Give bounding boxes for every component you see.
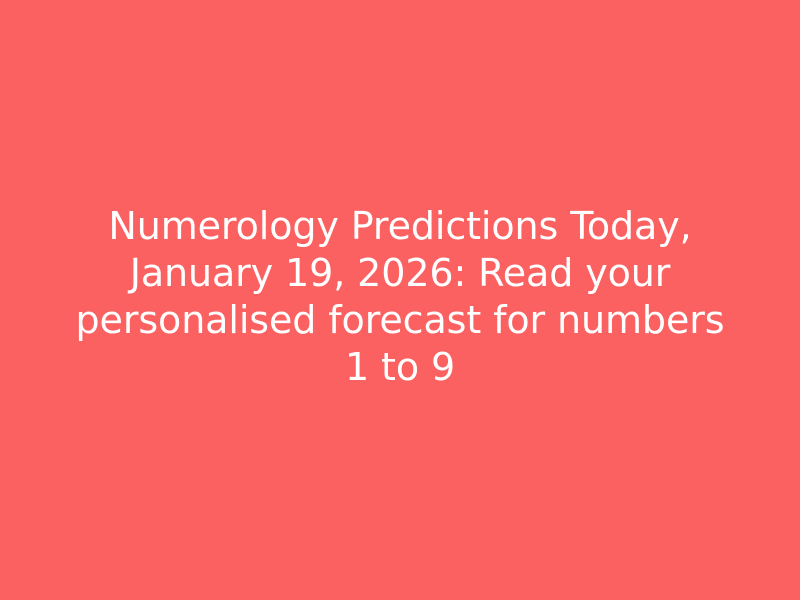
share-card-canvas: Numerology Predictions Today, January 19… (0, 0, 800, 600)
page-title: Numerology Predictions Today, January 19… (70, 203, 730, 391)
headline-block: Numerology Predictions Today, January 19… (70, 203, 730, 391)
